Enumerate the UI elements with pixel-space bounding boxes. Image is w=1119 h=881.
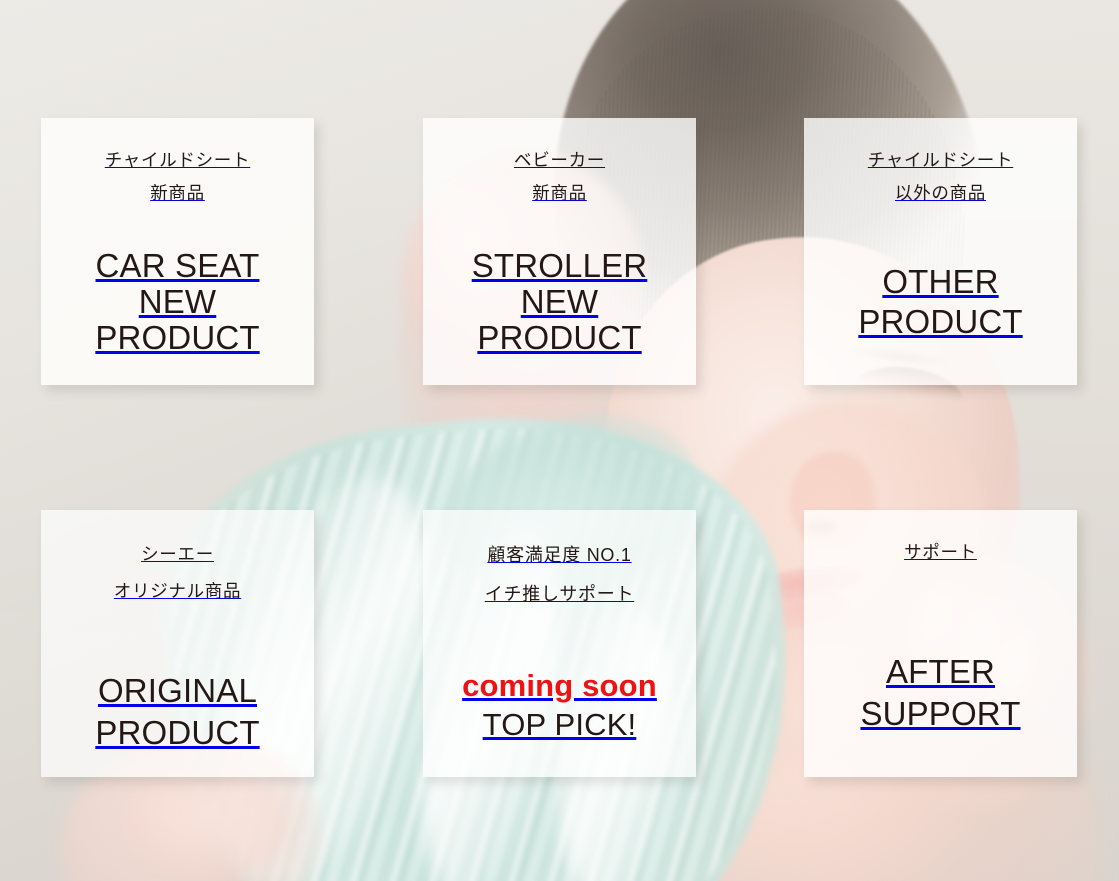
page-root: チャイルドシート 新商品 CAR SEAT NEW PRODUCT ベビーカー … bbox=[0, 0, 1119, 881]
card-title-en: ORIGINAL PRODUCT bbox=[95, 670, 259, 754]
card-subtitle-jp: サポート bbox=[904, 536, 977, 569]
card-title-en: AFTER SUPPORT bbox=[860, 651, 1020, 735]
card-jp-line-2: 以外の商品 bbox=[895, 183, 986, 203]
card-en-line-1: STROLLER bbox=[472, 247, 648, 284]
card-en-line-3: PRODUCT bbox=[477, 319, 641, 356]
card-subtitle-jp: チャイルドシート 以外の商品 bbox=[868, 144, 1013, 210]
card-en-line-2: NEW bbox=[521, 283, 598, 320]
card-en-line-1: ORIGINAL bbox=[98, 672, 257, 709]
card-en-line-1: AFTER bbox=[886, 653, 995, 690]
card-subtitle-jp: チャイルドシート 新商品 bbox=[105, 144, 250, 210]
card-jp-line-1: シーエー bbox=[141, 544, 214, 564]
card-en-line-3: PRODUCT bbox=[95, 319, 259, 356]
card-jp-line-1: チャイルドシート bbox=[868, 150, 1013, 170]
card-subtitle-jp: シーエー オリジナル商品 bbox=[114, 536, 241, 610]
category-card-grid: チャイルドシート 新商品 CAR SEAT NEW PRODUCT ベビーカー … bbox=[0, 0, 1119, 881]
card-jp-line-2: イチ推しサポート bbox=[485, 584, 634, 604]
card-en-line-1: OTHER bbox=[882, 263, 998, 300]
card-title-en: OTHER PRODUCT bbox=[858, 262, 1022, 342]
card-title-en: STROLLER NEW PRODUCT bbox=[472, 248, 648, 356]
card-en-line-1: TOP PICK! bbox=[462, 706, 657, 744]
card-after-support[interactable]: サポート AFTER SUPPORT bbox=[804, 510, 1077, 777]
card-top-pick[interactable]: 顧客満足度 NO.1 イチ推しサポート coming soon TOP PICK… bbox=[423, 510, 696, 777]
card-title-en: CAR SEAT NEW PRODUCT bbox=[95, 248, 259, 356]
card-jp-line-1: ベビーカー bbox=[514, 150, 605, 170]
card-other-product[interactable]: チャイルドシート 以外の商品 OTHER PRODUCT bbox=[804, 118, 1077, 385]
card-jp-line-2: 新商品 bbox=[150, 183, 205, 203]
card-original-product[interactable]: シーエー オリジナル商品 ORIGINAL PRODUCT bbox=[41, 510, 314, 777]
card-jp-line-1: サポート bbox=[904, 542, 977, 562]
card-stroller-new-product[interactable]: ベビーカー 新商品 STROLLER NEW PRODUCT bbox=[423, 118, 696, 385]
card-subtitle-jp: ベビーカー 新商品 bbox=[514, 144, 605, 210]
card-accent-coming-soon: coming soon bbox=[462, 666, 657, 706]
card-en-line-2: NEW bbox=[139, 283, 216, 320]
card-jp-line-1: チャイルドシート bbox=[105, 150, 250, 170]
card-title-en: coming soon TOP PICK! bbox=[462, 666, 657, 744]
card-jp-line-2: オリジナル商品 bbox=[114, 581, 241, 601]
card-en-line-2: PRODUCT bbox=[858, 303, 1022, 340]
card-en-line-1: CAR SEAT bbox=[96, 247, 260, 284]
card-jp-line-1: 顧客満足度 NO.1 bbox=[487, 545, 631, 565]
card-jp-line-2: 新商品 bbox=[532, 183, 587, 203]
card-subtitle-jp: 顧客満足度 NO.1 イチ推しサポート bbox=[485, 536, 634, 614]
card-car-seat-new-product[interactable]: チャイルドシート 新商品 CAR SEAT NEW PRODUCT bbox=[41, 118, 314, 385]
card-en-line-2: PRODUCT bbox=[95, 714, 259, 751]
card-en-line-2: SUPPORT bbox=[860, 695, 1020, 732]
